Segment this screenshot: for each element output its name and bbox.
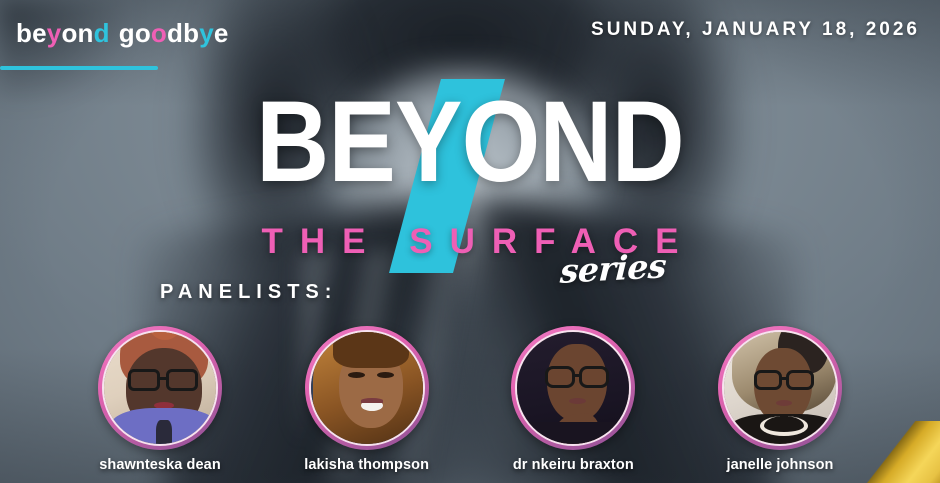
avatar bbox=[722, 330, 838, 446]
panelists-row: shawnteska dean lakisha t bbox=[70, 326, 870, 471]
title-block: BEYOND THE SURFACE series bbox=[0, 0, 940, 300]
panelist-card: shawnteska dean bbox=[70, 326, 250, 473]
panelists-label: PANELISTS: bbox=[160, 281, 337, 304]
panelist-name: janelle johnson bbox=[690, 457, 870, 473]
portrait-dr-nkeiru-braxton bbox=[517, 332, 629, 444]
panelist-name: shawnteska dean bbox=[70, 457, 250, 473]
title-sub: THE SURFACE bbox=[0, 222, 940, 262]
avatar-ring bbox=[305, 326, 429, 450]
avatar bbox=[309, 330, 425, 446]
portrait-lakisha-thompson bbox=[311, 332, 423, 444]
panelist-card: dr nkeiru braxton bbox=[483, 326, 663, 473]
avatar-ring bbox=[718, 326, 842, 450]
portrait-shawnteska-dean bbox=[104, 332, 216, 444]
avatar-ring bbox=[511, 326, 635, 450]
panelist-name: lakisha thompson bbox=[277, 457, 457, 473]
panelist-card: janelle johnson bbox=[690, 326, 870, 473]
title-script: series bbox=[559, 246, 667, 291]
gold-corner-accent bbox=[852, 421, 940, 483]
avatar bbox=[515, 330, 631, 446]
title-main: BEYOND bbox=[56, 92, 883, 193]
avatar-ring bbox=[98, 326, 222, 450]
event-flyer: beyondgoodbye SUNDAY, JANUARY 18, 2026 B… bbox=[0, 0, 940, 483]
avatar bbox=[102, 330, 218, 446]
panelist-card: lakisha thompson bbox=[277, 326, 457, 473]
panelist-name: dr nkeiru braxton bbox=[483, 457, 663, 473]
portrait-janelle-johnson bbox=[724, 332, 836, 444]
